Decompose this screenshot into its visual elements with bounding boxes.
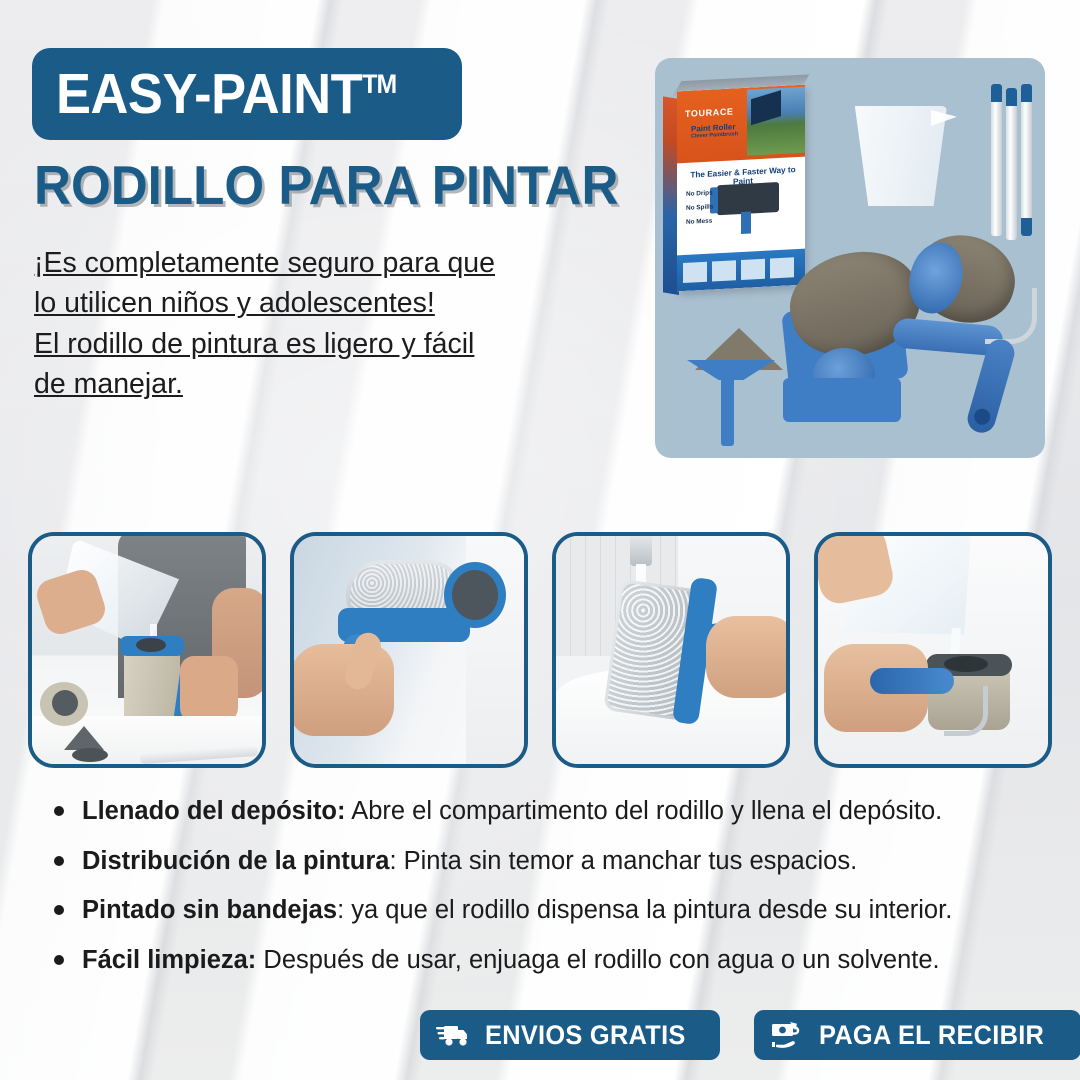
brand-title: EASY-PAINTTM [56, 66, 396, 123]
thumbnail-strip [28, 532, 1052, 768]
roller-end-cap [444, 562, 506, 628]
cap-part [72, 748, 108, 762]
intro-line-4: de manejar. [34, 364, 594, 404]
hand-gripping-handle [290, 644, 394, 736]
feature-bullet-list: Llenado del depósito: Abre el compartime… [40, 796, 1050, 994]
free-shipping-badge[interactable]: ENVIOS GRATIS [420, 1010, 720, 1060]
intro-line-1: ¡Es completamente seguro para que [34, 243, 594, 283]
package-roller-graphic [717, 182, 779, 215]
corner-roller-fill-hole [944, 656, 988, 672]
package-bottom-strip [677, 249, 805, 292]
product-package-box: TOURACE Paint Roller Clever Paintbrush T… [677, 85, 805, 292]
bullet-content: Llenado del depósito: Abre el compartime… [82, 796, 942, 827]
product-hero-image: TOURACE Paint Roller Clever Paintbrush T… [655, 58, 1045, 458]
intro-line-2: lo utilicen niños y adolescentes! [34, 283, 594, 323]
roller-wire-arm [944, 686, 988, 736]
brand-title-banner: EASY-PAINTTM [32, 48, 462, 140]
corner-pad-stem [721, 376, 734, 446]
bullet-label: Fácil limpieza: [82, 946, 256, 974]
extension-pole [1021, 84, 1032, 236]
corner-pad-part [64, 726, 104, 750]
package-step-thumb [770, 257, 794, 278]
bullet-content: Pintado sin bandejas: ya que el rodillo … [82, 895, 952, 926]
free-shipping-label: ENVIOS GRATIS [485, 1020, 686, 1051]
bullet-dot-icon [54, 806, 64, 816]
cash-on-delivery-icon [770, 1020, 806, 1050]
hand-holding-roller [706, 616, 790, 698]
brand-title-text: EASY-PAINT [56, 62, 362, 126]
package-scene-photo [747, 87, 805, 156]
list-item: Distribución de la pintura: Pinta sin te… [40, 846, 1050, 877]
list-item: Pintado sin bandejas: ya que el rodillo … [40, 895, 1050, 926]
package-feature-1: No Drips [686, 189, 713, 197]
roller-grip [870, 668, 954, 694]
bullet-dot-icon [54, 856, 64, 866]
bullet-dot-icon [54, 955, 64, 965]
delivery-truck-icon [436, 1021, 472, 1049]
bullet-dot-icon [54, 905, 64, 915]
photo-filling-reservoir [32, 536, 262, 764]
package-feature-2: No Spills [686, 203, 713, 211]
thumbnail-llenado-rodillo-esquinas [814, 532, 1052, 768]
bullet-text: Después de usar, enjuaga el rodillo con … [256, 946, 939, 974]
package-step-thumb [741, 259, 765, 280]
intro-paragraph: ¡Es completamente seguro para que lo uti… [34, 243, 594, 405]
extension-pole [1006, 88, 1017, 240]
package-step-thumb [683, 262, 707, 283]
thumbnail-pintando-la-pared [290, 532, 528, 768]
roller-fill-hole [136, 638, 166, 652]
package-front-face: TOURACE Paint Roller Clever Paintbrush T… [677, 85, 805, 292]
bottom-badges: ENVIOS GRATIS PAGA EL RECIBIR [420, 1010, 1080, 1060]
photo-rinsing-roller [556, 536, 786, 764]
intro-line-3: El rodillo de pintura es ligero y fácil [34, 324, 594, 364]
hand-holding-roller [180, 656, 238, 722]
package-feature-3: No Mess [686, 218, 712, 226]
thumbnail-enjuagando-el-rodillo [552, 532, 790, 768]
bullet-label: Pintado sin bandejas [82, 896, 337, 924]
bullet-text: : ya que el rodillo dispensa la pintura … [337, 896, 952, 924]
extension-pole [991, 84, 1002, 236]
cash-on-delivery-label: PAGA EL RECIBIR [819, 1020, 1044, 1051]
thumbnail-llenado-del-deposito [28, 532, 266, 768]
small-roller-wire-arm [985, 288, 1037, 344]
page-subtitle: RODILLO PARA PINTAR [34, 158, 618, 213]
bullet-label: Distribución de la pintura [82, 847, 389, 875]
advertisement-page: EASY-PAINTTM RODILLO PARA PINTAR ¡Es com… [0, 0, 1080, 1080]
bullet-label: Llenado del depósito: [82, 797, 346, 825]
list-item: Llenado del depósito: Abre el compartime… [40, 796, 1050, 827]
faucet-icon [630, 532, 652, 566]
trademark-symbol: TM [362, 69, 396, 99]
cash-on-delivery-badge[interactable]: PAGA EL RECIBIR [754, 1010, 1080, 1060]
spare-roller-part [40, 682, 88, 726]
product-kit-illustration: TOURACE Paint Roller Clever Paintbrush T… [655, 58, 1045, 458]
photo-filling-corner-roller [818, 536, 1048, 764]
bullet-content: Distribución de la pintura: Pinta sin te… [82, 846, 857, 877]
bullet-content: Fácil limpieza: Después de usar, enjuaga… [82, 945, 940, 976]
photo-painting-wall [294, 536, 524, 764]
package-step-thumb [712, 260, 736, 281]
main-roller-base-plate [783, 378, 901, 422]
bullet-text: Abre el compartimento del rodillo y llen… [346, 797, 943, 825]
bullet-text: : Pinta sin temor a manchar tus espacios… [389, 847, 857, 875]
list-item: Fácil limpieza: Después de usar, enjuaga… [40, 945, 1050, 976]
